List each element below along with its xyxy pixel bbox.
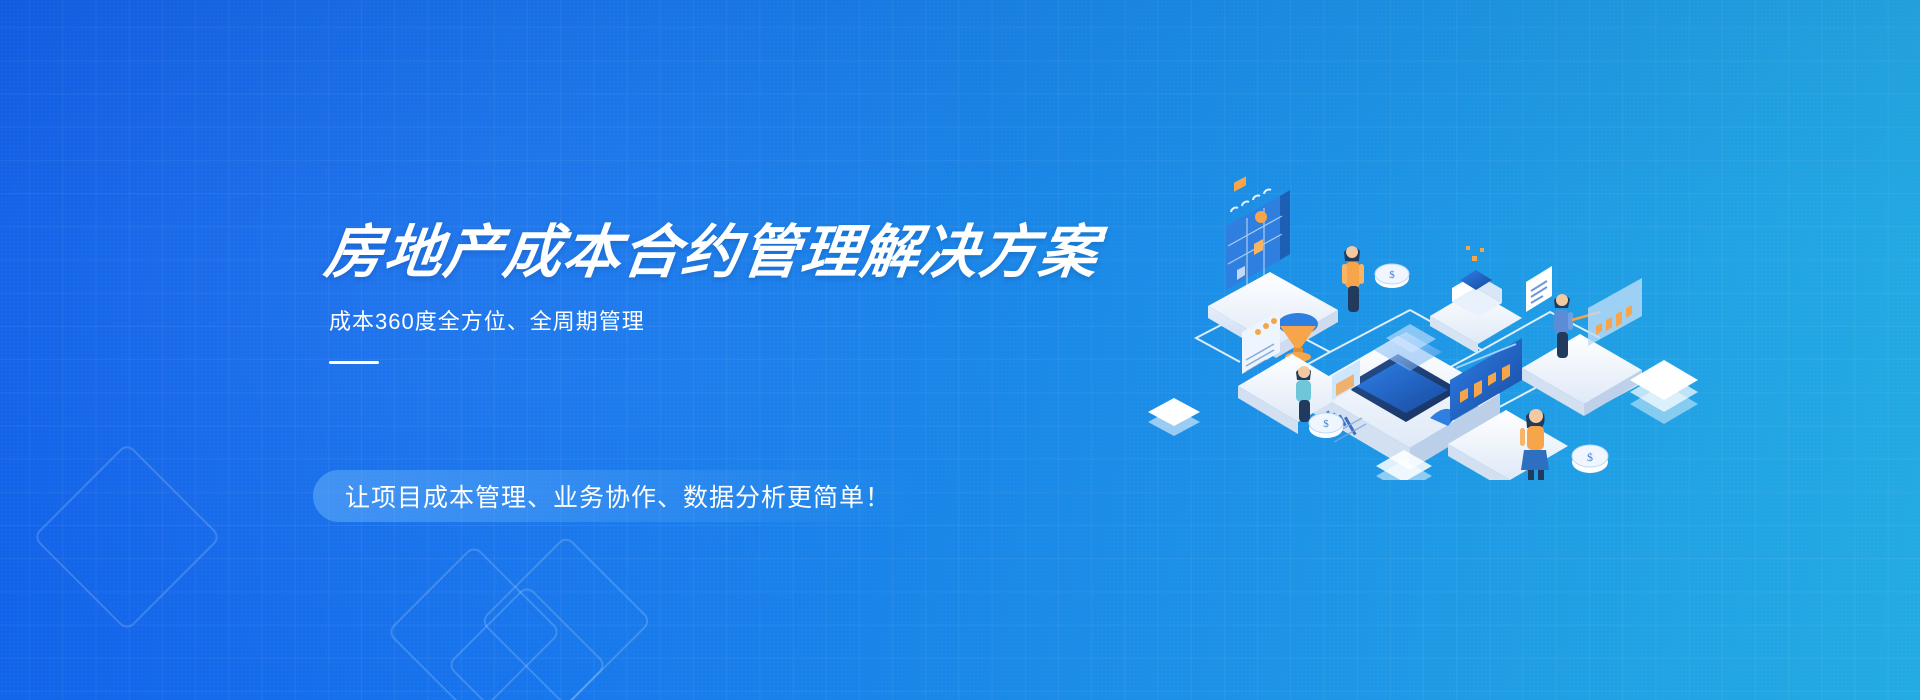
decor-diamond-3 — [446, 584, 607, 700]
decor-diamond-1 — [32, 442, 222, 632]
tagline-pill: 让项目成本管理、业务协作、数据分析更简单！ — [313, 470, 925, 522]
person-orange-jacket — [1342, 246, 1364, 312]
coin-stack-right: $ — [1572, 445, 1608, 473]
document-card — [1526, 266, 1552, 312]
page-subtitle: 成本360度全方位、全周期管理 — [329, 307, 1085, 338]
coin-stack-left: $ — [1375, 264, 1409, 288]
title-divider — [329, 361, 379, 364]
analytics-platform — [1522, 334, 1642, 416]
hero-banner: 房地产成本合约管理解决方案 成本360度全方位、全周期管理 让项目成本管理、业务… — [0, 0, 1920, 700]
bar-chart-screen-right — [1588, 160, 1642, 346]
page-title: 房地产成本合约管理解决方案 — [321, 222, 1089, 285]
layered-cards-left — [1148, 398, 1200, 436]
tagline-text: 让项目成本管理、业务协作、数据分析更简单！ — [345, 478, 891, 514]
isometric-network-illustration: $ — [1130, 160, 1710, 480]
upload-platform — [1430, 246, 1522, 354]
svg-text:$: $ — [1323, 418, 1329, 430]
hero-copy: 房地产成本合约管理解决方案 成本360度全方位、全周期管理 — [325, 222, 1085, 364]
calendar-board — [1226, 176, 1290, 290]
svg-text:$: $ — [1389, 269, 1395, 281]
coin-stack-bottom: $ — [1309, 413, 1343, 438]
decor-diamond-4 — [480, 535, 653, 700]
decor-diamond-2 — [386, 544, 561, 700]
svg-text:$: $ — [1587, 450, 1593, 464]
